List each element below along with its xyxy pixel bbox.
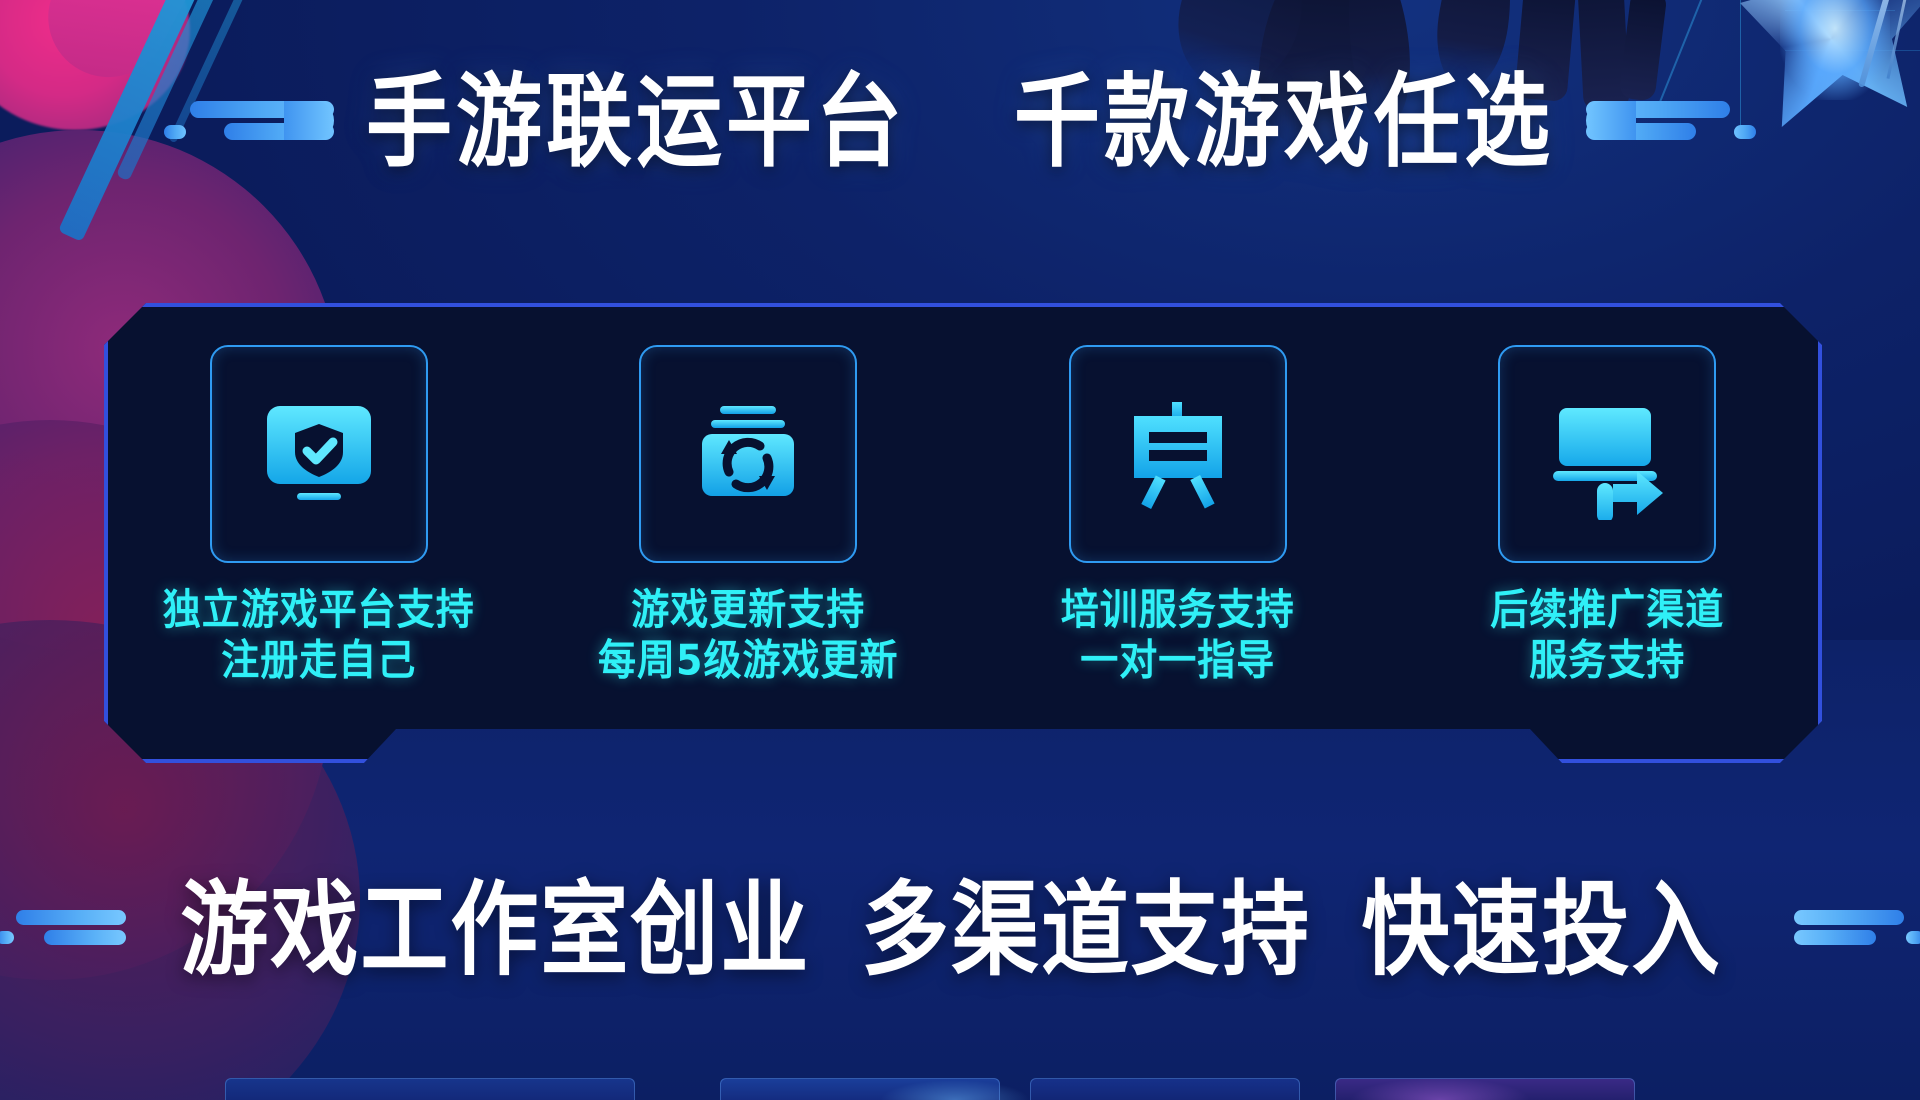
thumbnail-glow <box>1350 1078 1530 1100</box>
footer-headline-segment-1: 游戏工作室创业 <box>180 870 810 989</box>
page-title-part-1: 手游联运平台 <box>366 64 906 182</box>
feature-label-line-1: 独立游戏平台支持 <box>163 585 475 633</box>
double-bar-deco-icon <box>1794 906 1920 954</box>
feature-label-line-2: 每周5级游戏更新 <box>598 635 898 686</box>
page-title: 手游联运平台 千款游戏任选 <box>366 72 1554 173</box>
feature-label: 后续推广渠道 服务支持 <box>1490 584 1724 686</box>
thumbnail-glow <box>880 1080 1030 1100</box>
main-headline-row: 手游联运平台 千款游戏任选 <box>0 68 1920 178</box>
feature-label-line-2: 服务支持 <box>1490 635 1724 686</box>
double-bar-deco-icon <box>0 906 126 954</box>
footer-headline-row: 游戏工作室创业 多渠道支持 快速投入 <box>0 870 1920 990</box>
feature-label-line-2: 一对一指导 <box>1061 635 1295 686</box>
stacked-box-sync-refresh-icon <box>682 388 814 520</box>
feature-item-game-update[interactable]: 游戏更新支持 每周5级游戏更新 <box>583 345 913 682</box>
monitor-arrow-right-icon <box>1541 388 1673 520</box>
double-bar-deco-icon <box>164 95 334 151</box>
footer-headline-segment-3: 快速投入 <box>1362 870 1722 989</box>
feature-label: 游戏更新支持 每周5级游戏更新 <box>598 584 898 686</box>
feature-label-line-1: 培训服务支持 <box>1061 585 1295 633</box>
presentation-board-easel-icon <box>1112 388 1244 520</box>
feature-icon-box <box>1498 345 1716 563</box>
feature-label-line-1: 游戏更新支持 <box>631 585 865 633</box>
feature-icon-box <box>639 345 857 563</box>
feature-label: 培训服务支持 一对一指导 <box>1061 584 1295 686</box>
feature-list: 独立游戏平台支持 注册走自己 游戏更新支持 <box>104 303 1822 763</box>
thumbnail-strip-item[interactable] <box>1030 1078 1300 1100</box>
monitor-shield-check-icon <box>253 388 385 520</box>
feature-icon-box <box>1069 345 1287 563</box>
thumbnail-strip-item[interactable] <box>225 1078 635 1100</box>
page-title-part-2: 千款游戏任选 <box>1014 64 1554 182</box>
feature-icon-box <box>210 345 428 563</box>
footer-headline: 游戏工作室创业 多渠道支持 快速投入 <box>180 879 1739 981</box>
feature-item-independent-platform[interactable]: 独立游戏平台支持 注册走自己 <box>154 345 484 682</box>
feature-item-promotion-channel[interactable]: 后续推广渠道 服务支持 <box>1442 345 1772 682</box>
feature-label-line-1: 后续推广渠道 <box>1490 585 1724 633</box>
feature-label: 独立游戏平台支持 注册走自己 <box>163 584 475 686</box>
footer-headline-segment-2: 多渠道支持 <box>861 870 1311 989</box>
feature-label-line-2: 注册走自己 <box>163 635 475 686</box>
double-bar-deco-icon <box>1586 95 1756 151</box>
feature-item-training-service[interactable]: 培训服务支持 一对一指导 <box>1013 345 1343 682</box>
